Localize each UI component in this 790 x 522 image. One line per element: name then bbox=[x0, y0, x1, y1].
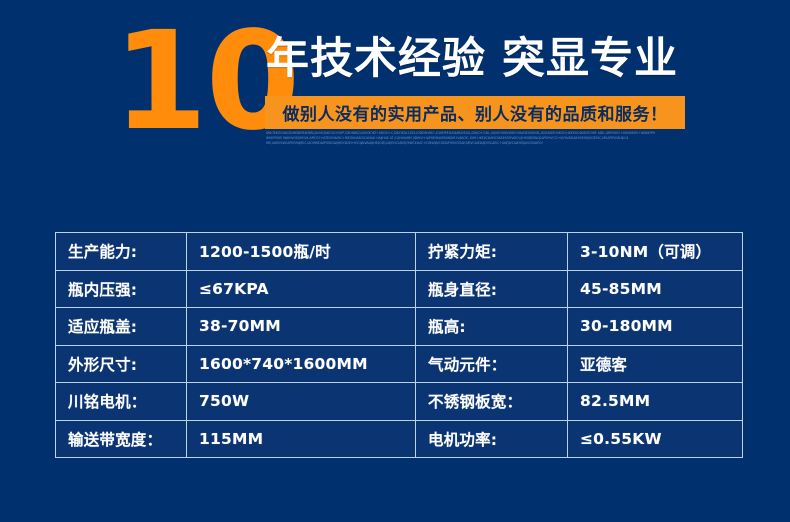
table-row: 川铭电机： 750W 不锈钢板宽： 82.5MM bbox=[56, 383, 742, 421]
spec-label: 瓶高: bbox=[416, 308, 568, 345]
header-section: 10 年技术经验 突显专业 做别人没有的实用产品、别人没有的品质和服务！ DKI… bbox=[0, 0, 790, 170]
spec-value: 3-10NM（可调） bbox=[568, 233, 742, 270]
spec-value: 750W bbox=[187, 383, 416, 420]
spec-label: 电机功率: bbox=[416, 421, 568, 458]
table-row: 外形尺寸: 1600*740*1600MM 气动元件： 亚德客 bbox=[56, 346, 742, 384]
spec-value: ≤67KPA bbox=[187, 271, 416, 308]
spec-label: 生产能力: bbox=[56, 233, 187, 270]
spec-value: ≤0.55KW bbox=[568, 421, 742, 458]
headline-text: 年技术经验 突显专业 bbox=[266, 30, 686, 90]
spec-value: 1600*740*1600MM bbox=[187, 346, 416, 383]
spec-value: 1200-1500瓶/时 bbox=[187, 233, 416, 270]
tagline-bar: 做别人没有的实用产品、别人没有的品质和服务！ bbox=[265, 96, 685, 129]
table-row: 输送带宽度： 115MM 电机功率: ≤0.55KW bbox=[56, 421, 742, 458]
spec-label: 外形尺寸: bbox=[56, 346, 187, 383]
spec-value: 亚德客 bbox=[568, 346, 742, 383]
table-row: 瓶内压强: ≤67KPA 瓶身直径: 45-85MM bbox=[56, 271, 742, 309]
table-row: 适应瓶盖: 38-70MM 瓶高: 30-180MM bbox=[56, 308, 742, 346]
tagline-text: 做别人没有的实用产品、别人没有的品质和服务！ bbox=[283, 100, 668, 125]
promo-banner: 10 年技术经验 突显专业 做别人没有的实用产品、别人没有的品质和服务！ DKI… bbox=[0, 0, 790, 522]
spec-label: 气动元件： bbox=[416, 346, 568, 383]
spec-value: 45-85MM bbox=[568, 271, 742, 308]
microtext-line: IHE,IAKEIVXIEAPEIOIWJEIC,IAOIHKEIAIPIOXC… bbox=[266, 141, 682, 146]
spec-label: 瓶内压强: bbox=[56, 271, 187, 308]
specification-table: 生产能力: 1200-1500瓶/时 拧紧力矩: 3-10NM（可调） 瓶内压强… bbox=[55, 232, 743, 458]
spec-label: 适应瓶盖: bbox=[56, 308, 187, 345]
microtext-block: DKIOEKOCI4KIODHEBIERXIWBCJAHVCNXIO3I+NOP… bbox=[266, 131, 682, 146]
spec-value: 30-180MM bbox=[568, 308, 742, 345]
spec-label: 输送带宽度： bbox=[56, 421, 187, 458]
spec-label: 川铭电机： bbox=[56, 383, 187, 420]
spec-label: 瓶身直径: bbox=[416, 271, 568, 308]
spec-label: 拧紧力矩: bbox=[416, 233, 568, 270]
table-row: 生产能力: 1200-1500瓶/时 拧紧力矩: 3-10NM（可调） bbox=[56, 233, 742, 271]
spec-value: 38-70MM bbox=[187, 308, 416, 345]
spec-label: 不锈钢板宽： bbox=[416, 383, 568, 420]
spec-value: 115MM bbox=[187, 421, 416, 458]
spec-value: 82.5MM bbox=[568, 383, 742, 420]
